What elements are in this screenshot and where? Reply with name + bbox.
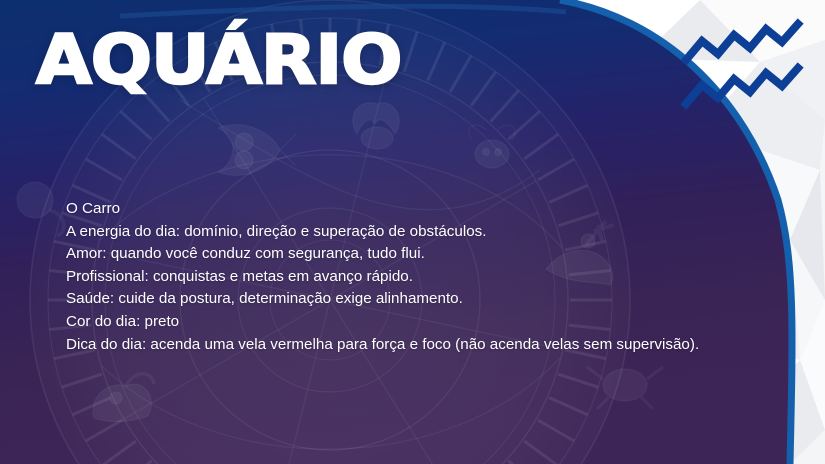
aquarius-zigzag-icon [676, 14, 816, 114]
horoscope-line: Saúde: cuide da postura, determinação ex… [66, 288, 726, 311]
page-title: AQUÁRIO [36, 27, 401, 95]
horoscope-line: Amor: quando você conduz com segurança, … [66, 243, 726, 266]
horoscope-line: Profissional: conquistas e metas em avan… [66, 266, 726, 289]
horoscope-line: A energia do dia: domínio, direção e sup… [66, 221, 726, 244]
horoscope-card-image: AQUÁRIO O Carro A energia do dia: domíni… [0, 0, 825, 464]
horoscope-text-block: O Carro A energia do dia: domínio, direç… [66, 198, 726, 356]
horoscope-line: Cor do dia: preto [66, 311, 726, 334]
horoscope-line: Dica do dia: acenda uma vela vermelha pa… [66, 334, 726, 357]
horoscope-line: O Carro [66, 198, 726, 221]
